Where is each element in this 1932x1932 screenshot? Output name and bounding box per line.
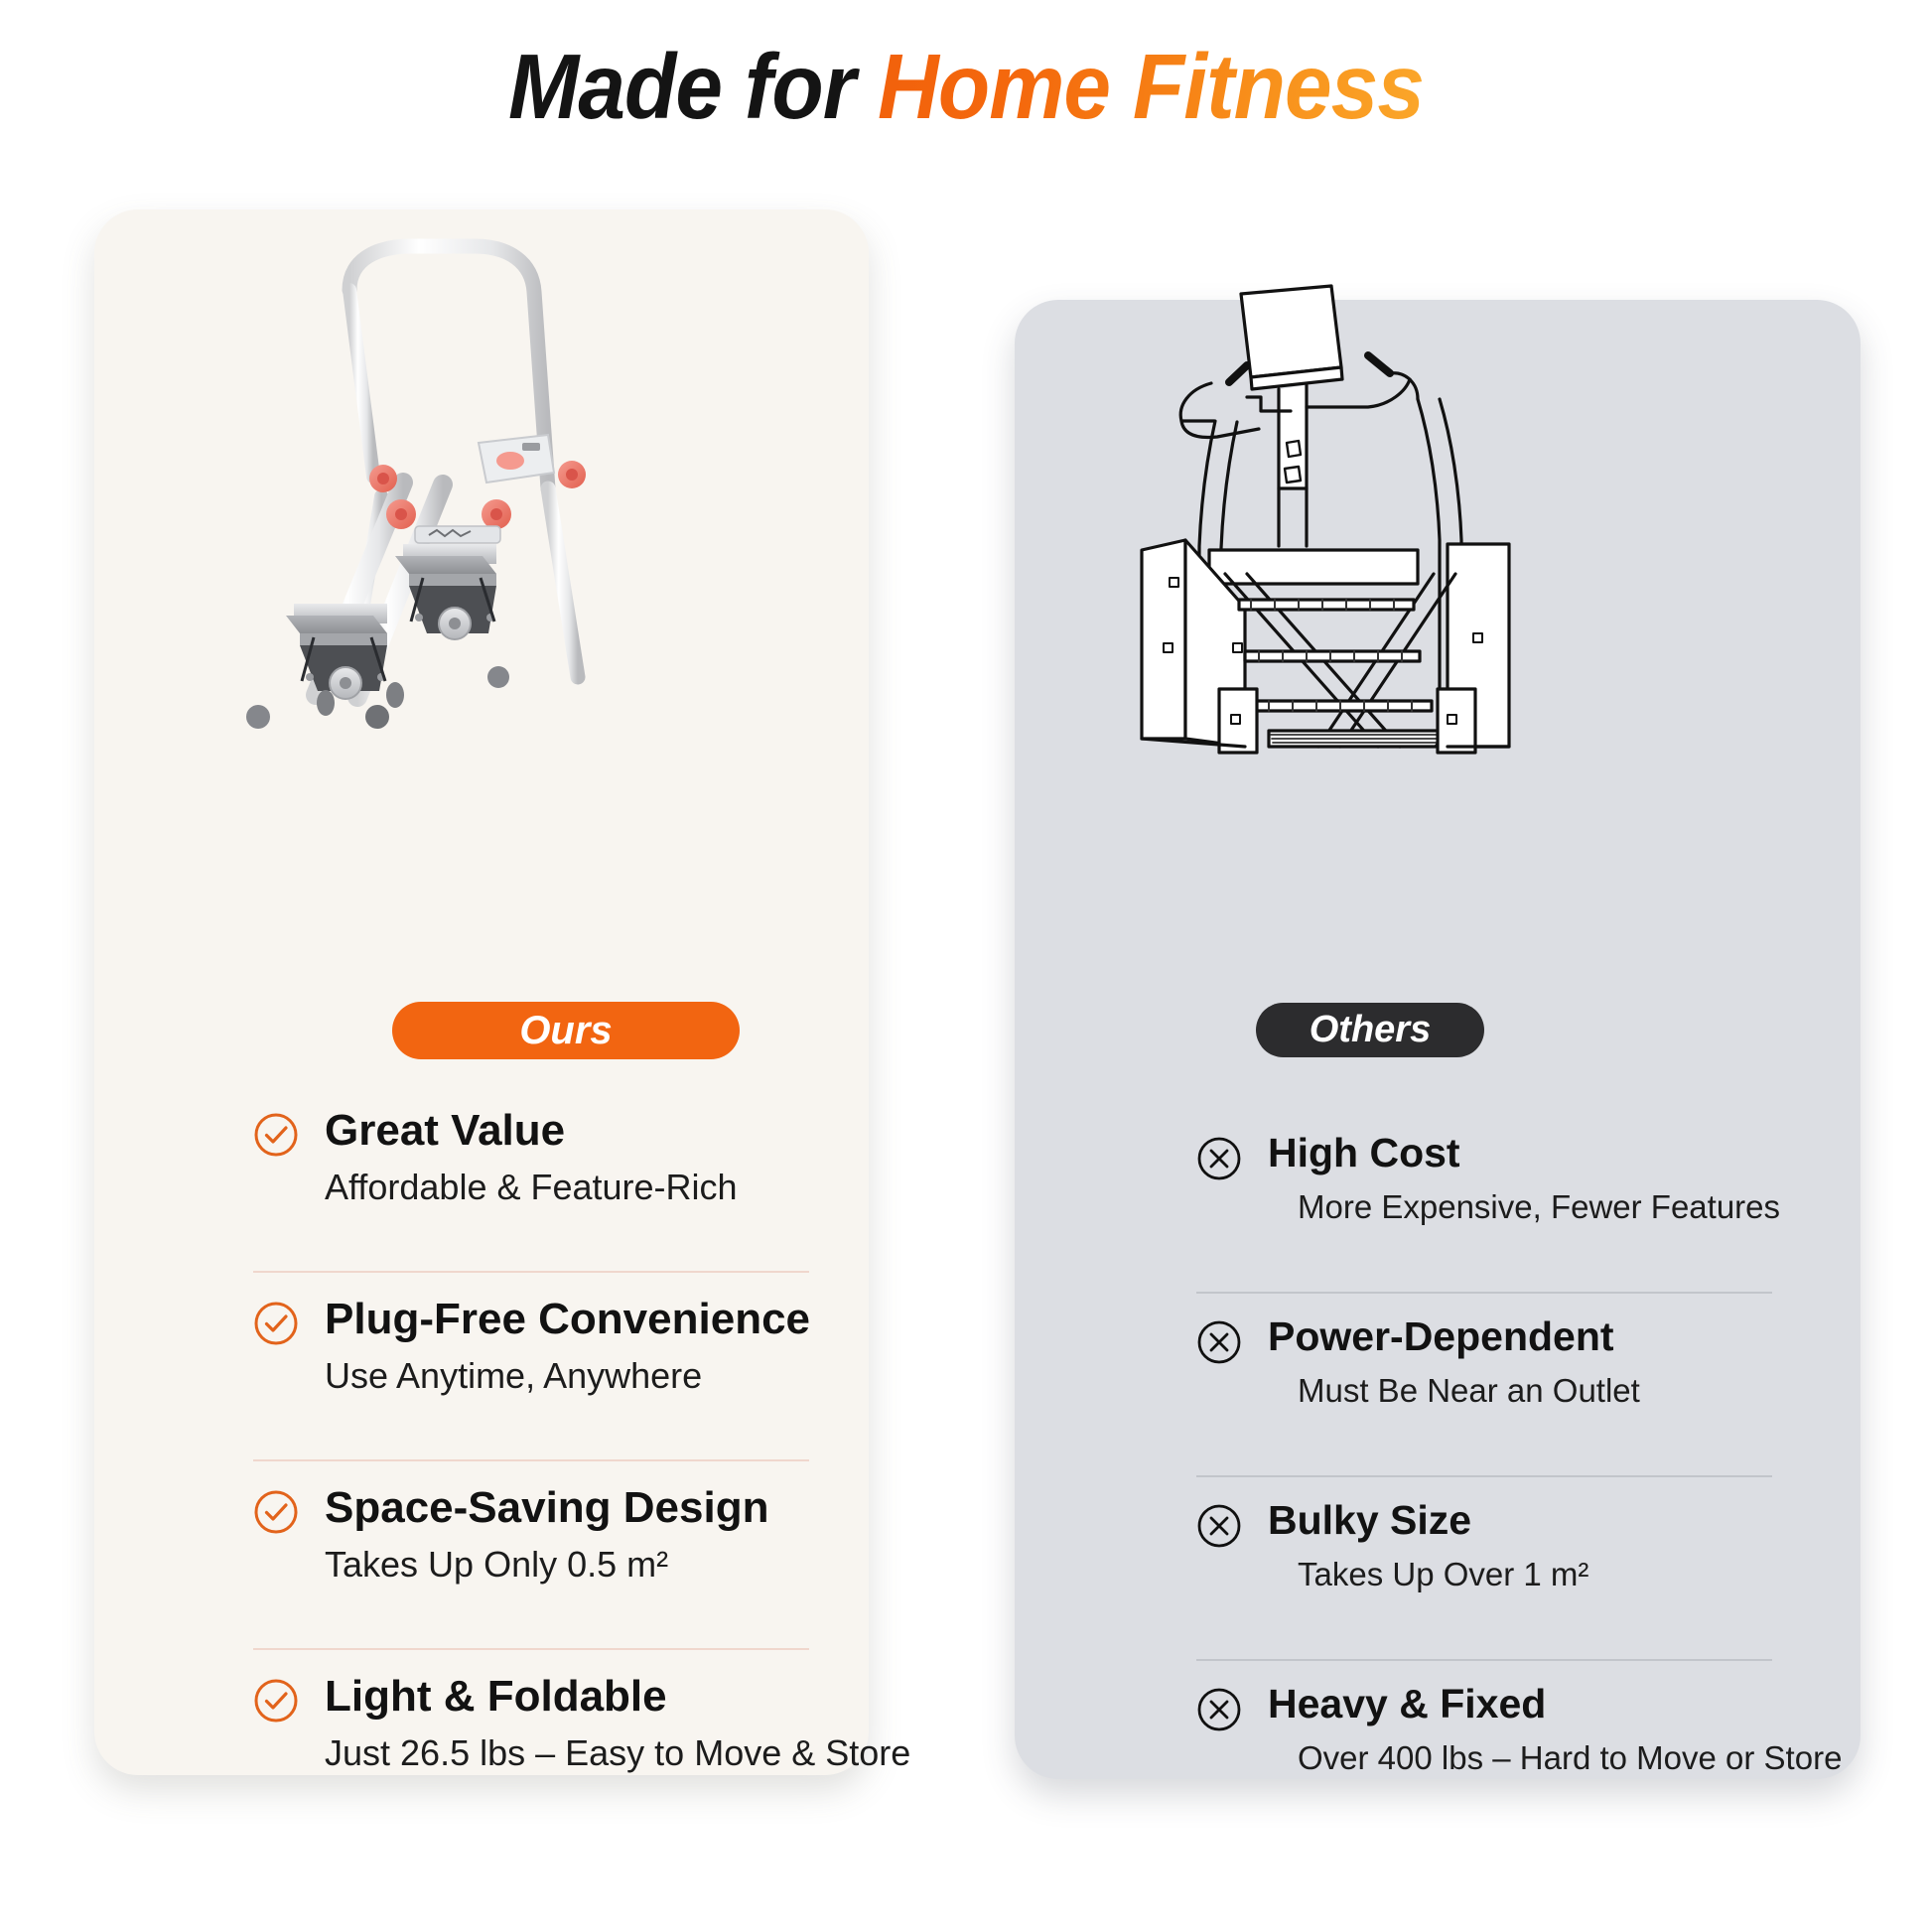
page-title: Made for Home Fitness [77,34,1855,140]
badge-ours: Ours [392,1002,740,1059]
feature-subtitle: Over 400 lbs – Hard to Move or Store [1298,1739,1772,1777]
feature-subtitle: Takes Up Only 0.5 m² [325,1544,809,1586]
feature-title: High Cost [1268,1132,1772,1174]
feature-title: Space-Saving Design [325,1485,809,1531]
feature-subtitle: Must Be Near an Outlet [1298,1372,1772,1410]
list-divider [253,1459,809,1461]
feature-title: Bulky Size [1268,1499,1772,1542]
page-title-plain: Made for [508,35,878,138]
feature-title: Plug-Free Convenience [325,1297,809,1342]
check-circle-icon [253,1678,299,1724]
list-divider [1196,1475,1772,1477]
x-circle-icon [1196,1136,1242,1181]
badge-ours-label: Ours [519,1009,612,1053]
check-circle-icon [253,1489,299,1535]
feature-title: Great Value [325,1108,809,1154]
list-item: Heavy & Fixed Over 400 lbs – Hard to Mov… [1196,1683,1772,1866]
list-divider [253,1271,809,1273]
check-circle-icon [253,1301,299,1346]
list-divider [1196,1292,1772,1294]
ours-product-image [199,228,715,764]
feature-subtitle: More Expensive, Fewer Features [1298,1188,1772,1226]
x-circle-icon [1196,1319,1242,1365]
feature-title: Light & Foldable [325,1674,809,1720]
page-title-accent: Home Fitness [878,35,1424,138]
list-item: Light & Foldable Just 26.5 lbs – Easy to… [253,1674,809,1863]
list-item: Power-Dependent Must Be Near an Outlet [1196,1315,1772,1499]
feature-subtitle: Affordable & Feature-Rich [325,1167,809,1208]
others-feature-list: High Cost More Expensive, Fewer Features… [1196,1132,1772,1866]
ours-feature-list: Great Value Affordable & Feature-Rich Pl… [253,1108,809,1863]
feature-subtitle: Use Anytime, Anywhere [325,1355,809,1397]
x-circle-icon [1196,1503,1242,1549]
others-product-illustration [1120,280,1569,757]
list-item: Space-Saving Design Takes Up Only 0.5 m² [253,1485,809,1674]
feature-title: Power-Dependent [1268,1315,1772,1358]
check-circle-icon [253,1112,299,1158]
list-divider [253,1648,809,1650]
feature-title: Heavy & Fixed [1268,1683,1772,1725]
badge-others: Others [1256,1003,1484,1057]
badge-others-label: Others [1310,1009,1431,1051]
feature-subtitle: Just 26.5 lbs – Easy to Move & Store [325,1732,809,1774]
list-item: Great Value Affordable & Feature-Rich [253,1108,809,1297]
feature-subtitle: Takes Up Over 1 m² [1298,1556,1772,1593]
list-item: Plug-Free Convenience Use Anytime, Anywh… [253,1297,809,1485]
list-item: Bulky Size Takes Up Over 1 m² [1196,1499,1772,1683]
x-circle-icon [1196,1687,1242,1732]
list-item: High Cost More Expensive, Fewer Features [1196,1132,1772,1315]
comparison-infographic: Made for Home Fitness [0,0,1932,1932]
list-divider [1196,1659,1772,1661]
